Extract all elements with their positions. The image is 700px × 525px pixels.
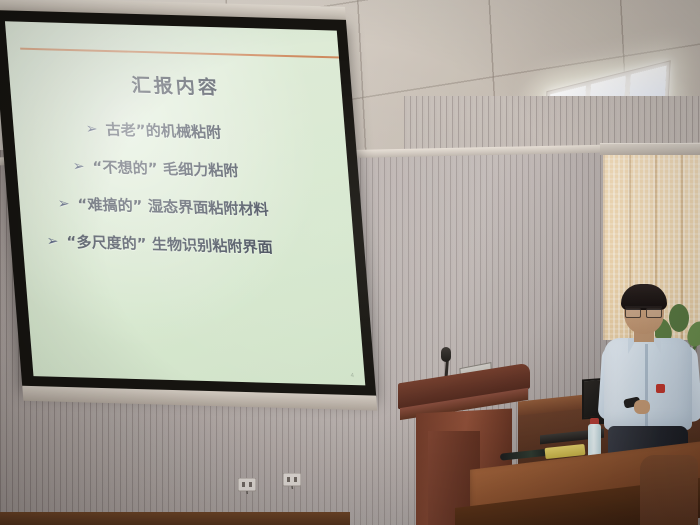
list-item-label: “不想的” 毛细力粘附 [92, 156, 239, 181]
list-item-label: “多尺度的” 生物识别粘附界面 [66, 231, 274, 258]
list-item: ➢ “不想的” 毛细力粘附 [16, 154, 349, 184]
projection-screen: 汇报内容 ➢ 古老”的机械粘附 ➢ “不想的” 毛细力粘附 ➢ “难搞的” 湿态… [0, 10, 376, 397]
presenter-hand [634, 400, 650, 414]
wall-outlet [238, 478, 256, 494]
conference-room-photo: 汇报内容 ➢ 古老”的机械粘附 ➢ “不想的” 毛细力粘附 ➢ “难搞的” 湿态… [0, 0, 700, 525]
wooden-chair [640, 455, 698, 525]
shirt-placket [645, 344, 648, 428]
slide-title: 汇报内容 [9, 67, 343, 103]
gooseneck-microphone [441, 347, 451, 362]
bullet-arrow-icon: ➢ [46, 233, 59, 249]
bullet-arrow-icon: ➢ [57, 195, 70, 211]
glasses-lens-left [625, 308, 641, 318]
slide-bullet-list: ➢ 古老”的机械粘附 ➢ “不想的” 毛细力粘附 ➢ “难搞的” 湿态界面粘附材… [13, 116, 357, 277]
presentation-slide: 汇报内容 ➢ 古老”的机械粘附 ➢ “不想的” 毛细力粘附 ➢ “难搞的” 湿态… [5, 21, 365, 385]
glasses-icon [625, 306, 662, 316]
slide-divider-rule [20, 48, 345, 59]
list-item-label: “难搞的” 湿态界面粘附材料 [77, 193, 270, 219]
list-item: ➢ “多尺度的” 生物识别粘附界面 [22, 230, 355, 260]
wall-outlet [283, 473, 301, 489]
left-table-edge [0, 512, 350, 525]
list-item: ➢ 古老”的机械粘附 [13, 116, 346, 146]
curtain-rod [600, 143, 700, 155]
list-item-label: 古老”的机械粘附 [105, 119, 222, 143]
bullet-arrow-icon: ➢ [72, 158, 85, 174]
red-lapel-badge [656, 384, 665, 393]
presenter-shirt [604, 338, 692, 430]
bullet-arrow-icon: ➢ [85, 121, 98, 137]
list-item: ➢ “难搞的” 湿态界面粘附材料 [19, 192, 352, 222]
glasses-lens-right [646, 308, 662, 318]
slide-page-number: 4 [350, 373, 354, 379]
